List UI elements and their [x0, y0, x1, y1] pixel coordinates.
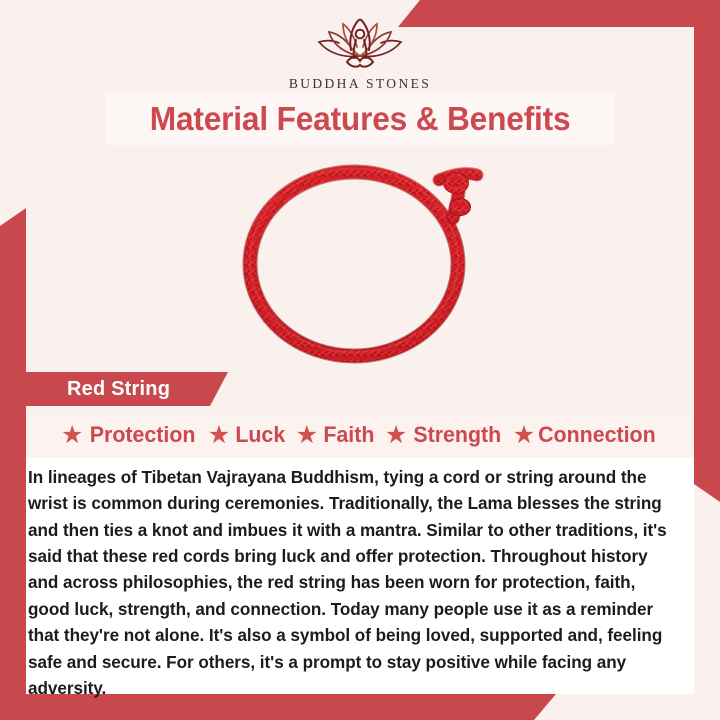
description-panel: In lineages of Tibetan Vajrayana Buddhis… [26, 458, 694, 694]
feature-label: Luck [235, 422, 285, 448]
brand-logo: BUDDHA STONES [0, 16, 720, 92]
feature-label: Protection [90, 422, 196, 448]
feature-label: Faith [323, 422, 374, 448]
section-ribbon: Red String [26, 372, 228, 406]
feature-label: Connection [538, 422, 656, 448]
feature-item: ★ Connection [513, 422, 659, 448]
decorative-left-bar [0, 208, 26, 720]
product-image [26, 150, 694, 365]
feature-item: ★ Faith [296, 422, 376, 448]
page-title: Material Features & Benefits [150, 100, 571, 138]
red-braided-string-bracelet-icon [234, 152, 486, 364]
feature-item: ★ Strength [385, 422, 504, 448]
lotus-meditation-icon [299, 16, 421, 72]
section-label: Red String [67, 378, 170, 401]
star-icon: ★ [61, 423, 83, 448]
feature-item: ★ Luck [208, 422, 287, 448]
feature-label: Strength [414, 422, 502, 448]
star-icon: ★ [208, 423, 230, 448]
features-row: ★ Protection ★ Luck ★ Faith ★ Strength ★… [26, 412, 694, 458]
star-icon: ★ [296, 423, 318, 448]
star-icon: ★ [513, 423, 535, 448]
description-text: In lineages of Tibetan Vajrayana Buddhis… [28, 464, 676, 701]
title-banner: Material Features & Benefits [105, 93, 615, 145]
brand-name: BUDDHA STONES [289, 76, 431, 92]
decorative-right-bar [694, 27, 720, 502]
star-icon: ★ [385, 423, 407, 448]
infographic-page: BUDDHA STONES Material Features & Benefi… [0, 0, 720, 720]
feature-item: ★ Protection [61, 422, 199, 448]
